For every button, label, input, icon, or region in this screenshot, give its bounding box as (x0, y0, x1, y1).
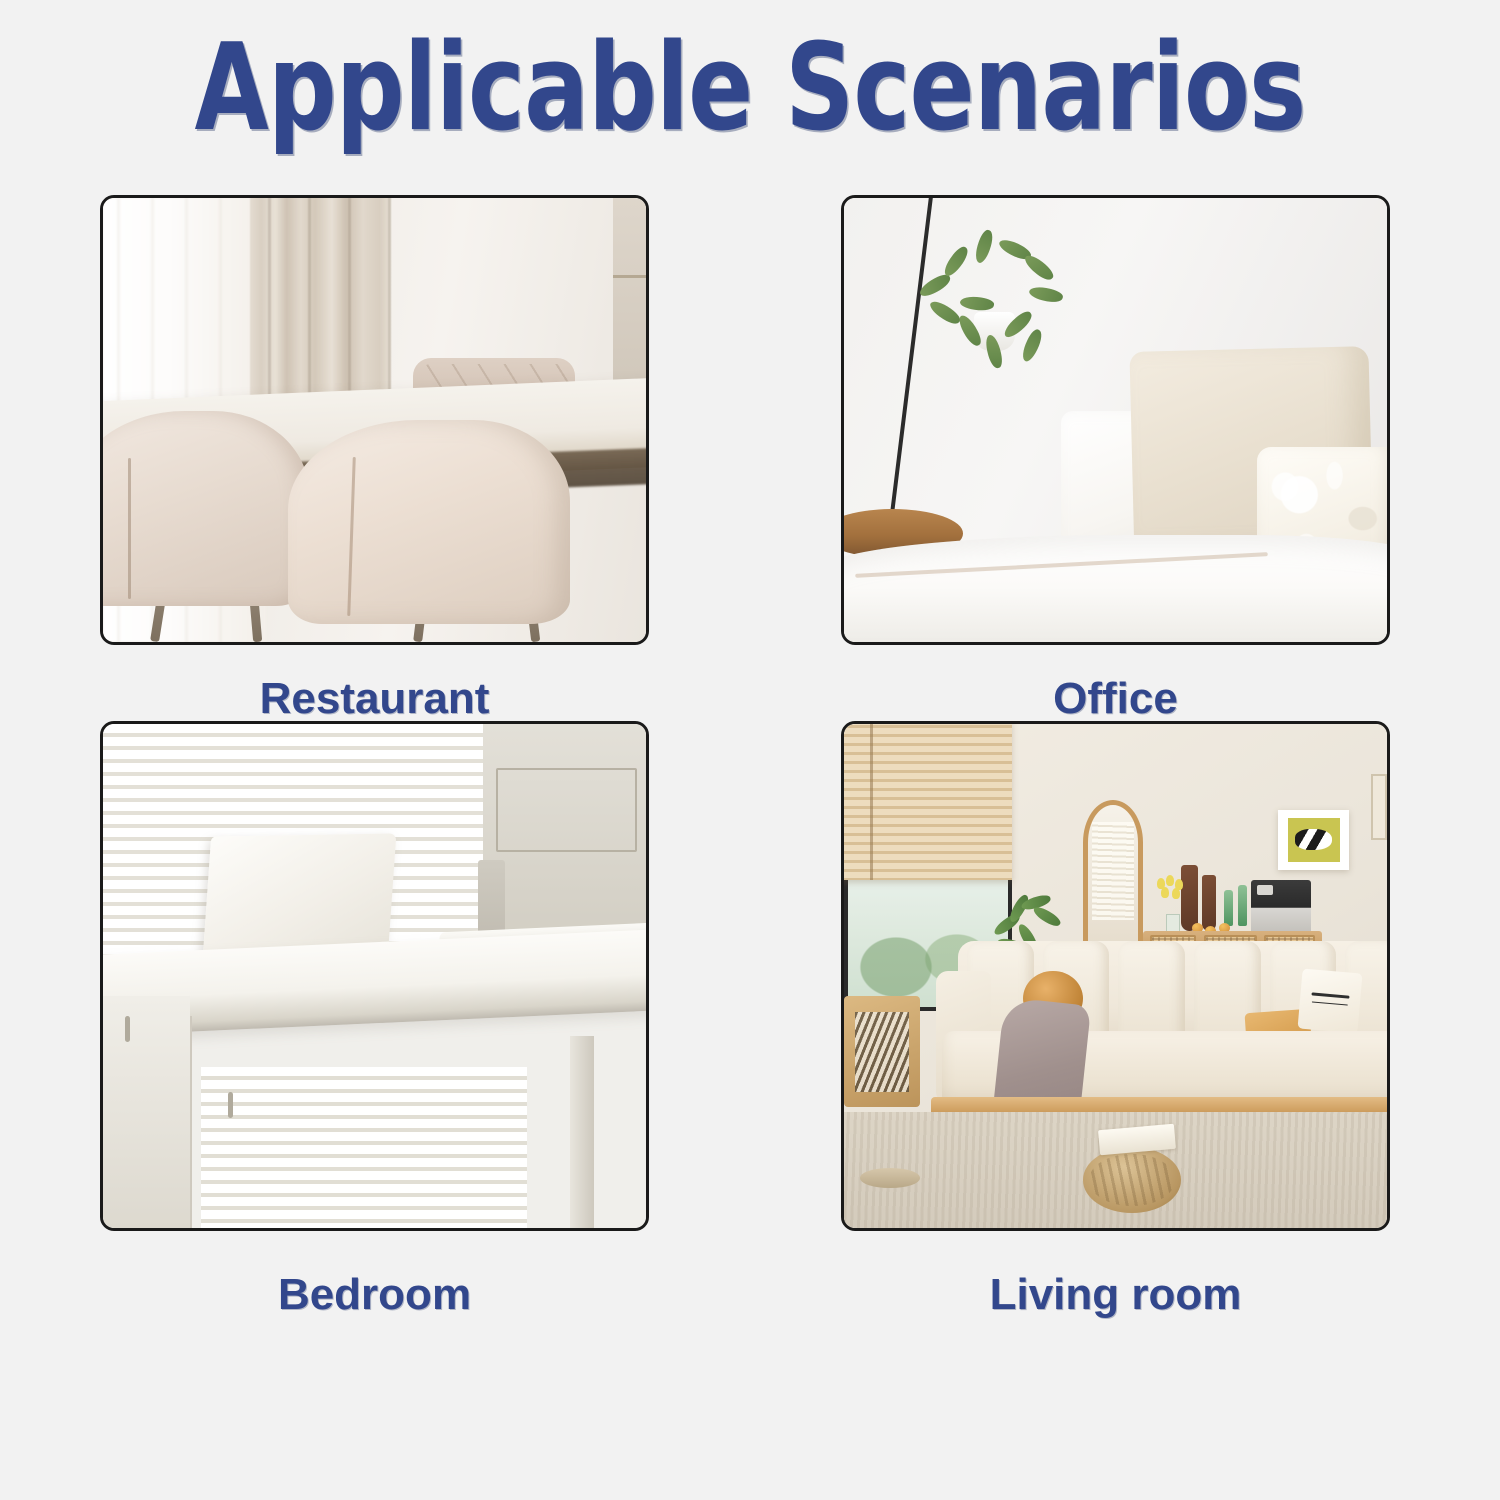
tulip (1166, 875, 1174, 886)
woven-pouf (1083, 1147, 1181, 1213)
green-bottle (1238, 885, 1247, 925)
scenario-caption-bedroom: Bedroom (278, 1273, 471, 1317)
green-bottle (1224, 890, 1233, 925)
tulip-bouquet (1154, 875, 1192, 935)
desk-leg (570, 1036, 594, 1228)
scenario-caption-living-room: Living room (990, 1273, 1242, 1317)
living-room-scene-illustration (844, 724, 1387, 1228)
scenario-photo-living-room[interactable] (841, 721, 1390, 1231)
scenario-caption-restaurant: Restaurant (260, 677, 490, 721)
office-scene-illustration (844, 198, 1387, 642)
tulip (1161, 887, 1169, 898)
plant-leaf (928, 297, 963, 328)
applicable-scenarios-page: Applicable Scenarios (0, 0, 1500, 1500)
restaurant-scene-illustration (103, 198, 646, 642)
dining-chair (103, 411, 309, 606)
scenario-photo-office[interactable] (841, 195, 1390, 645)
cabinet-handle (125, 1016, 130, 1042)
scenario-caption-office: Office (1053, 677, 1178, 721)
cabinet (483, 724, 646, 946)
plant-leaf (1028, 284, 1064, 305)
page-title: Applicable Scenarios (150, 26, 1350, 152)
plant-leaf (940, 244, 971, 279)
plant-leaf (972, 228, 996, 264)
cutting-board (1202, 875, 1216, 930)
plant-leaf (959, 295, 994, 313)
plant-leaf (1019, 328, 1046, 364)
bed-duvet (844, 535, 1387, 642)
framed-artwork (1278, 810, 1349, 870)
scenario-card-bedroom[interactable]: Bedroom (100, 721, 649, 1317)
scenario-grid: Restaurant (100, 195, 1390, 1480)
bedroom-scene-illustration (103, 724, 646, 1228)
side-cabinet (103, 996, 190, 1228)
arched-floor-mirror (1083, 800, 1143, 951)
artwork-canvas (1288, 818, 1340, 862)
plant-leaf (1022, 251, 1056, 283)
wooden-accent-chair (844, 996, 920, 1107)
slippers (860, 1168, 920, 1188)
hanging-plant (915, 234, 1089, 385)
face-print-cushion (1298, 968, 1363, 1033)
wall-frame-secondary (1371, 774, 1387, 840)
scenario-photo-restaurant[interactable] (100, 195, 649, 645)
window-blinds-lower (201, 1067, 527, 1228)
scenario-photo-bedroom[interactable] (100, 721, 649, 1231)
cabinet-handle (228, 1092, 233, 1118)
scenario-card-living-room[interactable]: Living room (841, 721, 1390, 1317)
scenario-card-restaurant[interactable]: Restaurant (100, 195, 649, 721)
plant-leaf (1031, 904, 1062, 930)
dining-chair (288, 420, 570, 624)
wooden-window-blinds (844, 724, 1012, 880)
scenario-card-office[interactable]: Office (841, 195, 1390, 721)
tulip (1172, 888, 1180, 899)
